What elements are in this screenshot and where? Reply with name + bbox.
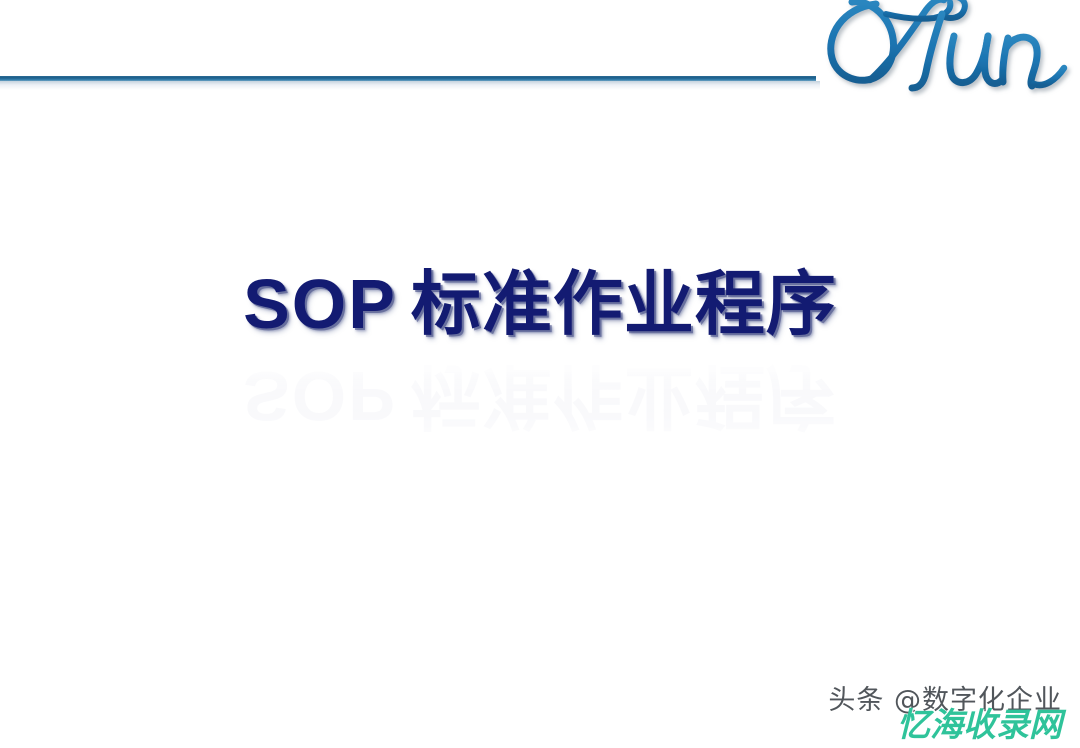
presentation-slide: SOP标准作业程序 SOP标准作业程序 头条 @数字化企业 忆海收录网 xyxy=(0,0,1080,748)
title-block: SOP标准作业程序 xyxy=(0,258,1080,350)
page-title: SOP标准作业程序 xyxy=(0,258,1080,350)
reflection-fade-overlay xyxy=(0,350,1080,455)
title-reflection-text: SOP标准作业程序 xyxy=(243,350,837,442)
title-chinese: 标准作业程序 xyxy=(411,265,837,343)
header-divider-shadow xyxy=(0,81,820,90)
title-reflection-latin: SOP xyxy=(243,357,411,435)
sun-logo xyxy=(812,0,1074,104)
title-reflection-chinese: 标准作业程序 xyxy=(411,357,837,435)
title-latin: SOP xyxy=(243,265,411,343)
title-reflection: SOP标准作业程序 xyxy=(0,350,1080,442)
watermark-site-brand: 忆海收录网 xyxy=(897,706,1062,744)
